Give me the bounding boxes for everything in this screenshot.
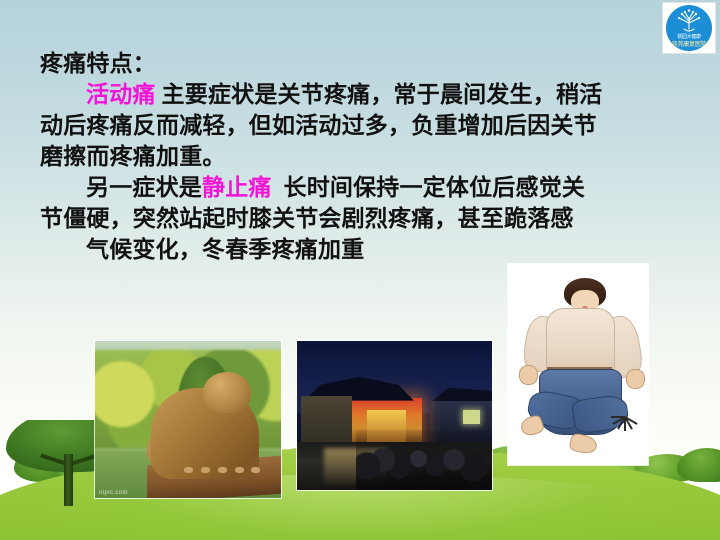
logo-text-group: 桃园大健康 凯苑康复医院	[663, 35, 715, 48]
paragraph-1-text: 主要症状是关节疼痛，常于晨间发生，稍活	[156, 82, 603, 107]
image-night-opera-stage	[297, 341, 492, 490]
paragraph-1-line-2: 动后疼痛反而减轻，但如活动过多，负重增加后因关节	[40, 110, 640, 141]
paragraph-2-text: 长时间保持一定体位后感觉关	[272, 175, 586, 200]
logo-line-1: 桃园大健康	[663, 35, 715, 40]
pain-burst-icon	[609, 401, 640, 433]
paragraph-2-prefix: 另一症状是	[86, 175, 202, 200]
paragraph-2-line-1: 另一症状是静止痛 长时间保持一定体位后感觉关	[40, 172, 640, 203]
tree-icon	[675, 9, 703, 33]
slide-canvas: 疼痛特点： 活动痛 主要症状是关节疼痛，常于晨间发生，稍活 动后疼痛反而减轻，但…	[0, 0, 720, 540]
slide-text-block: 疼痛特点： 活动痛 主要症状是关节疼痛，常于晨间发生，稍活 动后疼痛反而减轻，但…	[40, 48, 640, 265]
highlight-active-pain: 活动痛	[86, 82, 156, 107]
image-watermark: nipic.com	[99, 490, 128, 496]
logo-line-2: 凯苑康复医院	[663, 42, 715, 48]
hospital-logo: 桃园大健康 凯苑康复医院	[662, 2, 716, 54]
paragraph-1-line-3: 磨擦而疼痛加重。	[40, 141, 640, 172]
paragraph-3-line-1: 气候变化，冬春季疼痛加重	[40, 234, 640, 265]
page-title: 疼痛特点：	[40, 48, 640, 79]
image-woman-knee-pain	[508, 264, 648, 465]
paragraph-1-line-1: 活动痛 主要症状是关节疼痛，常于晨间发生，稍活	[40, 79, 640, 110]
highlight-rest-pain: 静止痛	[202, 175, 272, 200]
paragraph-2-line-2: 节僵硬，突然站起时膝关节会剧烈疼痛，甚至跪落感	[40, 203, 640, 234]
image-bronze-statue: nipic.com	[95, 341, 281, 498]
